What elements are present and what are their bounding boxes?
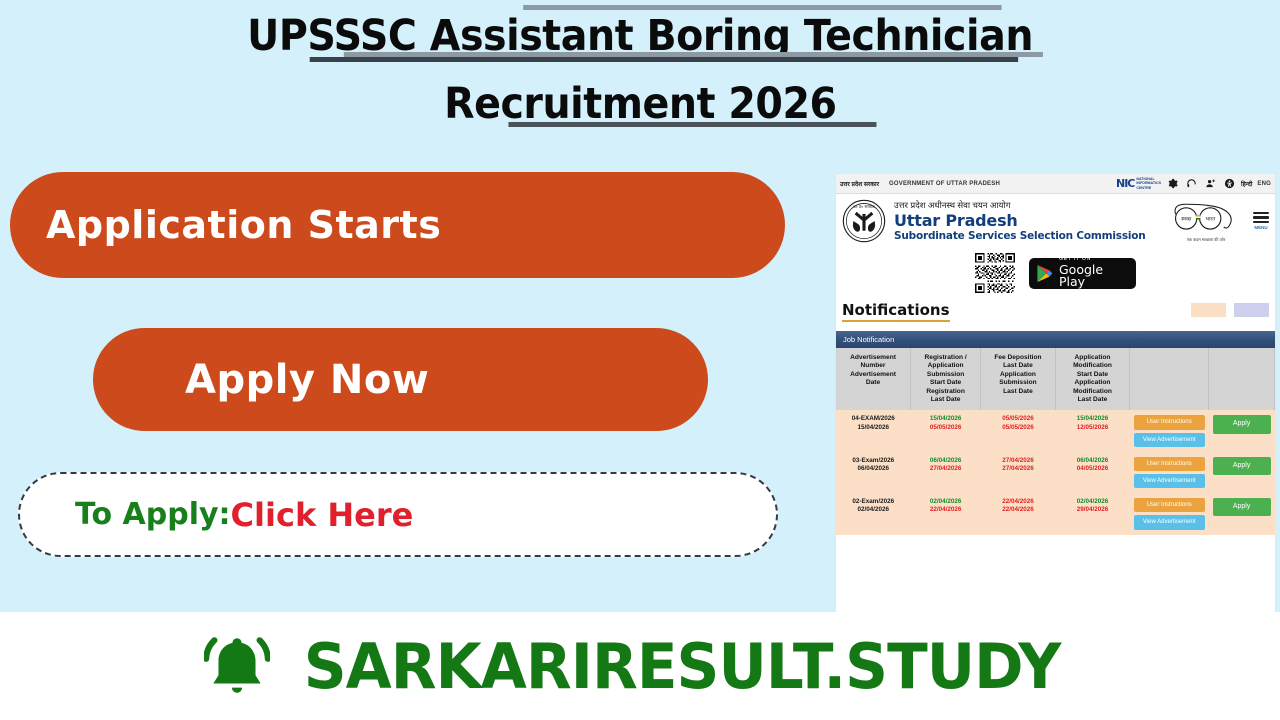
user-instructions-button[interactable]: User Instructions xyxy=(1134,415,1205,429)
col3-l1: Modification xyxy=(1058,362,1128,370)
gov-english-label: GOVERNMENT OF UTTAR PRADESH xyxy=(889,181,1000,187)
cell-registration: 15/04/2026 05/05/2026 xyxy=(911,410,981,451)
col0-l3: Date xyxy=(838,379,908,387)
col-registration-application: Registration / Application Submission St… xyxy=(911,348,981,410)
r1-adv-date: 06/04/2026 xyxy=(838,465,909,473)
legend-swatch-lavender xyxy=(1234,303,1269,317)
notification-legend xyxy=(1191,303,1269,317)
cell-advertisement: 04-EXAM/2026 15/04/2026 xyxy=(836,410,911,451)
apply-now-button[interactable]: Apply Now xyxy=(93,328,708,431)
r1-reg-start: 06/04/2026 xyxy=(913,457,979,465)
nic-logo-text: NIC xyxy=(1116,177,1134,190)
swachh-bharat-glasses-icon: स्वच्छ भारत xyxy=(1163,200,1249,234)
table-header-row: Advertisement Number Advertisement Date … xyxy=(836,348,1275,410)
col3-l2: Start Date xyxy=(1058,371,1128,379)
cell-modification: 15/04/2026 12/05/2026 xyxy=(1055,410,1130,451)
cell-apply: Apply xyxy=(1209,452,1275,493)
r2-mod-last: 29/04/2026 xyxy=(1057,506,1128,514)
r0-reg-start: 15/04/2026 xyxy=(913,415,979,423)
r0-adv-date: 15/04/2026 xyxy=(838,424,909,432)
website-screenshot-panel: उत्तर प्रदेश सरकार GOVERNMENT OF UTTAR P… xyxy=(836,174,1275,620)
cell-modification: 02/04/2026 29/04/2026 xyxy=(1055,493,1130,534)
hamburger-icon[interactable] xyxy=(1253,212,1269,224)
col3-l0: Application xyxy=(1058,354,1128,362)
col-fee-deposition: Fee Deposition Last Date Application Sub… xyxy=(981,348,1056,410)
application-starts-button[interactable]: Application Starts xyxy=(10,172,785,278)
r2-reg-start: 02/04/2026 xyxy=(913,498,979,506)
table-row: 02-Exam/2026 02/04/2026 02/04/2026 22/04… xyxy=(836,493,1275,534)
cell-apply: Apply xyxy=(1209,410,1275,451)
swachh-left-text: स्वच्छ xyxy=(1181,216,1192,222)
r0-fee-last: 05/05/2026 xyxy=(983,415,1054,423)
col0-l0: Advertisement xyxy=(838,354,908,362)
r0-adv-number: 04-EXAM/2026 xyxy=(838,415,909,423)
gear-icon[interactable] xyxy=(1167,178,1178,189)
r0-mod-last: 12/05/2026 xyxy=(1057,424,1128,432)
r0-reg-last: 05/05/2026 xyxy=(913,424,979,432)
col3-l4: Modification xyxy=(1058,388,1128,396)
brand-name: SARKARIRESULT.STUDY xyxy=(304,630,1061,703)
view-advertisement-button[interactable]: View Advertisement xyxy=(1134,515,1205,529)
lang-hindi[interactable]: हिन्दी xyxy=(1241,180,1252,188)
col3-l5: Last Date xyxy=(1058,396,1128,404)
gov-hindi-label: उत्तर प्रदेश सरकार xyxy=(840,180,879,188)
job-notification-label: Job Notification xyxy=(843,335,894,344)
notifications-heading-row: Notifications xyxy=(836,301,1275,322)
col1-l4: Registration xyxy=(913,388,978,396)
apply-button[interactable]: Apply xyxy=(1213,498,1271,516)
r2-fee-last: 22/04/2026 xyxy=(983,498,1054,506)
cell-registration: 02/04/2026 22/04/2026 xyxy=(911,493,981,534)
cell-actions: User Instructions View Advertisement xyxy=(1130,410,1209,451)
google-play-store-name: Google Play xyxy=(1059,264,1129,289)
col-application-modification: Application Modification Start Date Appl… xyxy=(1055,348,1130,410)
menu-button[interactable]: MENU xyxy=(1253,212,1269,231)
col1-l5: Last Date xyxy=(913,396,978,404)
site-topbar: उत्तर प्रदेश सरकार GOVERNMENT OF UTTAR P… xyxy=(836,174,1275,194)
col-actions xyxy=(1130,348,1209,410)
col3-l3: Application xyxy=(1058,379,1128,387)
r2-mod-start: 02/04/2026 xyxy=(1057,498,1128,506)
r0-sub-last: 05/05/2026 xyxy=(983,424,1054,432)
legend-swatch-peach xyxy=(1191,303,1226,317)
col2-l4: Last Date xyxy=(983,388,1053,396)
col2-l0: Fee Deposition xyxy=(983,354,1053,362)
view-advertisement-button[interactable]: View Advertisement xyxy=(1134,474,1205,488)
click-here-link[interactable]: Click Here xyxy=(231,496,414,534)
bell-icon xyxy=(204,630,270,702)
to-apply-label: To Apply: xyxy=(75,497,231,532)
title-deco-bottom xyxy=(310,57,1018,62)
table-row: 04-EXAM/2026 15/04/2026 15/04/2026 05/05… xyxy=(836,410,1275,451)
apply-button[interactable]: Apply xyxy=(1213,457,1271,475)
app-promo-row: GET IT ON Google Play xyxy=(836,247,1275,301)
page-title: UPSSSC Assistant Boring Technician Recru… xyxy=(0,2,1280,138)
r1-mod-start: 06/04/2026 xyxy=(1057,457,1128,465)
col0-l1: Number xyxy=(838,362,908,370)
apply-now-label: Apply Now xyxy=(185,357,429,403)
r2-adv-number: 02-Exam/2026 xyxy=(838,498,909,506)
r2-adv-date: 02/04/2026 xyxy=(838,506,909,514)
headset-icon[interactable] xyxy=(1186,178,1197,189)
lang-english[interactable]: ENG xyxy=(1257,181,1271,187)
r1-mod-last: 04/05/2026 xyxy=(1057,465,1128,473)
r0-mod-start: 15/04/2026 xyxy=(1057,415,1128,423)
swachh-right-text: भारत xyxy=(1205,216,1215,222)
site-header: उ० प्र० सरकार उत्तर प्रदेश अधीनस्थ सेवा … xyxy=(836,194,1275,247)
col2-l1: Last Date xyxy=(983,362,1053,370)
google-play-badge[interactable]: GET IT ON Google Play xyxy=(1029,258,1136,289)
table-row: 03-Exam/2026 06/04/2026 06/04/2026 27/04… xyxy=(836,452,1275,493)
cell-advertisement: 03-Exam/2026 06/04/2026 xyxy=(836,452,911,493)
cell-advertisement: 02-Exam/2026 02/04/2026 xyxy=(836,493,911,534)
job-notification-bar: Job Notification xyxy=(836,331,1275,348)
col-advertisement-number: Advertisement Number Advertisement Date xyxy=(836,348,911,410)
page-title-line2: Recruitment 2026 xyxy=(444,70,837,138)
menu-label: MENU xyxy=(1253,225,1269,230)
title2-deco-bottom xyxy=(508,122,876,127)
col-apply xyxy=(1209,348,1275,410)
qr-code-icon xyxy=(975,253,1015,293)
col1-l3: Start Date xyxy=(913,379,978,387)
site-subtitle: Subordinate Services Selection Commissio… xyxy=(894,230,1146,243)
cell-registration: 06/04/2026 27/04/2026 xyxy=(911,452,981,493)
poster-root: UPSSSC Assistant Boring Technician Recru… xyxy=(0,0,1280,720)
cell-actions: User Instructions View Advertisement xyxy=(1130,452,1209,493)
up-emblem-icon: उ० प्र० सरकार xyxy=(842,199,886,243)
r2-reg-last: 22/04/2026 xyxy=(913,506,979,514)
site-title: Uttar Pradesh xyxy=(894,211,1146,230)
col0-l2: Advertisement xyxy=(838,371,908,379)
notifications-heading: Notifications xyxy=(842,301,950,322)
add-user-icon[interactable] xyxy=(1205,178,1216,189)
google-play-icon xyxy=(1036,264,1053,283)
nic-sub-line3: CENTRE xyxy=(1136,186,1161,190)
col2-l3: Submission xyxy=(983,379,1053,387)
svg-text:उ० प्र० सरकार: उ० प्र० सरकार xyxy=(853,204,874,209)
r1-adv-number: 03-Exam/2026 xyxy=(838,457,909,465)
cell-fee: 05/05/2026 05/05/2026 xyxy=(981,410,1056,451)
r1-sub-last: 27/04/2026 xyxy=(983,465,1054,473)
site-hindi-name: उत्तर प्रदेश अधीनस्थ सेवा चयन आयोग xyxy=(894,200,1146,211)
col1-l2: Submission xyxy=(913,371,978,379)
job-notification-table: Advertisement Number Advertisement Date … xyxy=(836,348,1275,535)
application-starts-label: Application Starts xyxy=(46,203,441,247)
r2-sub-last: 22/04/2026 xyxy=(983,506,1054,514)
col1-l1: Application xyxy=(913,362,978,370)
cell-modification: 06/04/2026 04/05/2026 xyxy=(1055,452,1130,493)
cell-fee: 22/04/2026 22/04/2026 xyxy=(981,493,1056,534)
cell-fee: 27/04/2026 27/04/2026 xyxy=(981,452,1056,493)
topbar-icons xyxy=(1167,178,1235,189)
col2-l2: Application xyxy=(983,371,1053,379)
google-play-text: GET IT ON Google Play xyxy=(1059,257,1129,288)
r1-reg-last: 27/04/2026 xyxy=(913,465,979,473)
cell-actions: User Instructions View Advertisement xyxy=(1130,493,1209,534)
title-deco-top xyxy=(523,5,1001,10)
nic-sub: NATIONAL INFORMATICS CENTRE xyxy=(1134,177,1161,190)
user-instructions-button[interactable]: User Instructions xyxy=(1134,457,1205,471)
col1-l0: Registration / xyxy=(913,354,978,362)
accessibility-icon[interactable] xyxy=(1224,178,1235,189)
view-advertisement-button[interactable]: View Advertisement xyxy=(1134,433,1205,447)
site-header-text: उत्तर प्रदेश अधीनस्थ सेवा चयन आयोग Uttar… xyxy=(894,200,1146,243)
page-title-line1: UPSSSC Assistant Boring Technician xyxy=(247,2,1033,70)
nic-logo: NIC NATIONAL INFORMATICS CENTRE xyxy=(1116,177,1161,190)
site-brand-footer: SARKARIRESULT.STUDY xyxy=(0,612,1280,720)
swachh-caption: एक कदम स्वच्छता की ओर xyxy=(1163,237,1249,243)
to-apply-box[interactable]: To Apply: Click Here xyxy=(18,472,778,557)
r1-fee-last: 27/04/2026 xyxy=(983,457,1054,465)
apply-button[interactable]: Apply xyxy=(1213,415,1271,433)
swachh-bharat-logo: स्वच्छ भारत एक कदम स्वच्छता की ओर xyxy=(1163,200,1249,243)
user-instructions-button[interactable]: User Instructions xyxy=(1134,498,1205,512)
cell-apply: Apply xyxy=(1209,493,1275,534)
language-switcher[interactable]: हिन्दी ENG xyxy=(1241,180,1271,188)
